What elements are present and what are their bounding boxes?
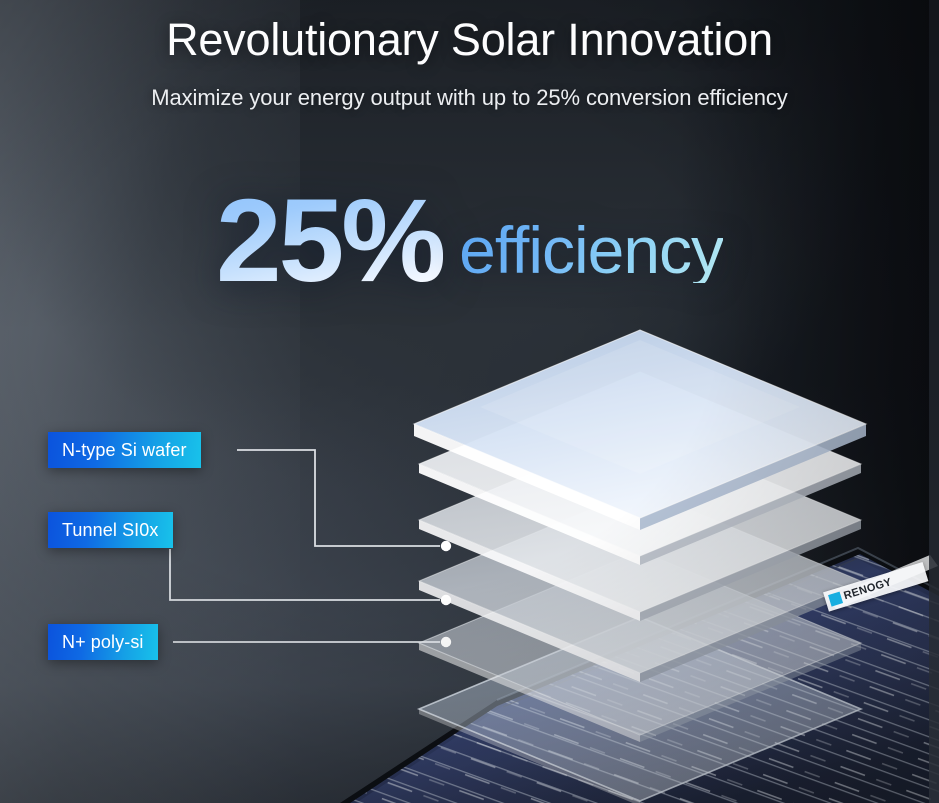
page-subtitle: Maximize your energy output with up to 2…: [0, 85, 939, 111]
efficiency-stat: 25%efficiency: [0, 182, 939, 300]
callout-label-n-type-si-wafer[interactable]: N-type Si wafer: [48, 432, 201, 468]
callout-label-tunnel-siox[interactable]: Tunnel SI0x: [48, 512, 173, 548]
background-vignette: [0, 0, 939, 803]
background-edge-strip: [929, 0, 939, 803]
renogy-mark-icon: [828, 592, 843, 607]
solar-hero-banner: RENOGY Revolutionary Solar Innovation Ma…: [0, 0, 939, 803]
efficiency-value: 25%: [216, 182, 443, 300]
callout-label-n-plus-poly-si[interactable]: N+ poly-si: [48, 624, 158, 660]
page-title: Revolutionary Solar Innovation: [0, 14, 939, 66]
efficiency-unit-label: efficiency: [459, 217, 723, 283]
